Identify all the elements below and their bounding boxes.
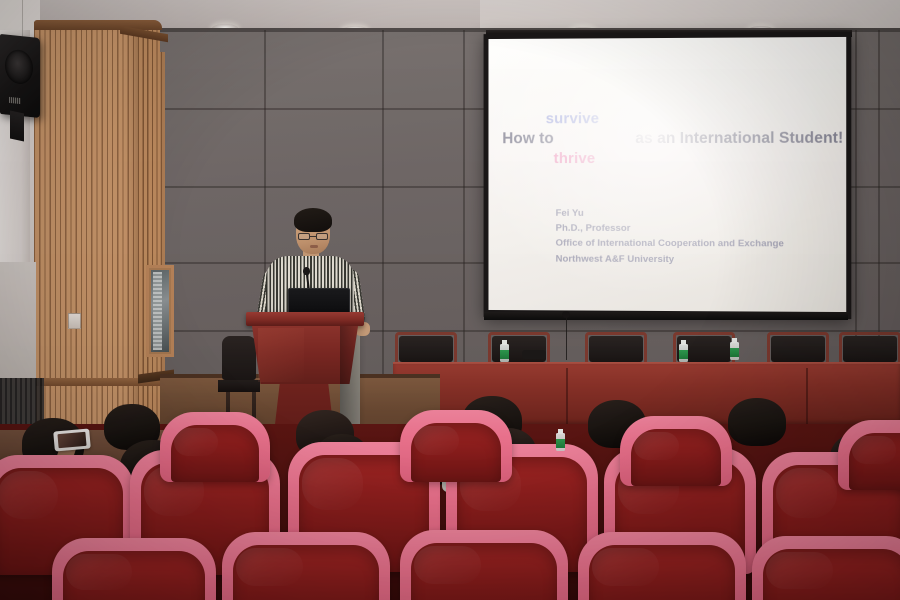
- glasses-lens-right: [316, 233, 328, 240]
- seat-highlight: [776, 468, 837, 518]
- wood-slat-panel-corner: [138, 30, 160, 430]
- bottle-cap: [558, 429, 563, 434]
- wall-switch-plate[interactable]: [68, 313, 81, 329]
- auditorium-seat[interactable]: [838, 420, 900, 490]
- seat-highlight: [414, 426, 459, 455]
- loudspeaker-icon: [0, 34, 40, 118]
- presentation-slide: survive How toas an International Studen…: [488, 37, 846, 312]
- side-chair-seat[interactable]: [218, 380, 260, 392]
- bottle-label: [556, 439, 565, 448]
- podium-microphone-icon: [303, 267, 310, 275]
- bottle-label: [500, 350, 509, 359]
- seat-highlight: [236, 548, 303, 586]
- auditorium-seat[interactable]: [752, 536, 900, 600]
- bottle-cap: [502, 340, 507, 345]
- water-bottle-icon[interactable]: [679, 340, 688, 362]
- bottle-cap: [732, 338, 737, 343]
- seat-highlight: [592, 548, 659, 586]
- panel-chair-back: [399, 336, 453, 362]
- panel-chair-back: [843, 336, 897, 362]
- presenter-title: Ph.D., Professor: [556, 221, 847, 237]
- seat-highlight: [852, 436, 896, 464]
- auditorium-seat[interactable]: [578, 532, 746, 600]
- water-bottle-icon[interactable]: [556, 429, 565, 451]
- side-chair-back[interactable]: [222, 336, 256, 380]
- speaker-hanging-wire: [22, 0, 23, 38]
- projection-screen-bottom-bar: [484, 312, 848, 320]
- table-microphone-icon: [562, 311, 570, 318]
- seat-highlight: [766, 552, 833, 589]
- laptop-icon[interactable]: [288, 288, 350, 314]
- wall-seam-vertical: [463, 30, 465, 378]
- podium-top: [246, 312, 364, 326]
- wood-slat-panel-front: [34, 22, 138, 430]
- audience-seat-rows: [0, 400, 900, 600]
- wall-seam-vertical: [382, 30, 384, 378]
- speaker-logo: [9, 97, 21, 104]
- wood-panel-cap: [34, 20, 162, 30]
- slide-title: How toas an International Student!: [502, 130, 846, 149]
- seat-highlight: [174, 428, 218, 456]
- wall-seam-vertical: [878, 30, 880, 378]
- auditorium-seat[interactable]: [52, 538, 216, 600]
- auditorium-seat[interactable]: [160, 412, 270, 482]
- auditorium-seat[interactable]: [400, 410, 512, 482]
- speaker-mount-bracket: [10, 111, 24, 142]
- bottle-label: [679, 350, 688, 359]
- side-window: [146, 265, 174, 357]
- slide-word-survive: survive: [546, 110, 599, 127]
- bottle-label: [730, 348, 739, 357]
- seat-highlight: [634, 432, 679, 460]
- slide-title-prefix: How to: [502, 130, 554, 147]
- presenter-name: Fei Yu: [556, 206, 847, 222]
- seat-highlight: [302, 458, 363, 510]
- projection-screen: survive How toas an International Studen…: [484, 32, 852, 319]
- panel-chair-back: [771, 336, 825, 362]
- auditorium-seat[interactable]: [222, 532, 390, 600]
- seat-highlight: [0, 471, 58, 519]
- glasses-lens-left: [298, 233, 310, 240]
- podium-highlight: [258, 328, 304, 382]
- water-bottle-icon[interactable]: [730, 338, 739, 360]
- speaker-cone-icon: [5, 48, 33, 85]
- presenter-mouth: [310, 245, 318, 248]
- auditorium-seat[interactable]: [620, 416, 732, 486]
- slide-title-suffix: as an International Student!: [635, 130, 843, 147]
- presenter-office: Office of International Cooperation and …: [556, 236, 847, 252]
- glasses-icon: [298, 233, 328, 240]
- slide-presenter-block: Fei Yu Ph.D., Professor Office of Intern…: [556, 206, 847, 268]
- bottle-cap: [681, 340, 686, 345]
- seat-highlight: [414, 546, 481, 584]
- auditorium-seat[interactable]: [400, 530, 568, 600]
- table-dark-object: [522, 350, 546, 359]
- lecture-hall-photo: survive How toas an International Studen…: [0, 0, 900, 600]
- table-microphone-stand: [566, 316, 567, 360]
- water-bottle-icon[interactable]: [500, 340, 509, 362]
- panel-chair-back: [589, 336, 643, 362]
- presenter-university: Northwest A&F University: [556, 251, 847, 267]
- presenter-hair: [294, 208, 332, 232]
- wall-seam-vertical: [855, 30, 857, 378]
- seat-highlight: [66, 554, 132, 590]
- slide-word-thrive: thrive: [554, 150, 596, 167]
- window-blind: [153, 272, 162, 350]
